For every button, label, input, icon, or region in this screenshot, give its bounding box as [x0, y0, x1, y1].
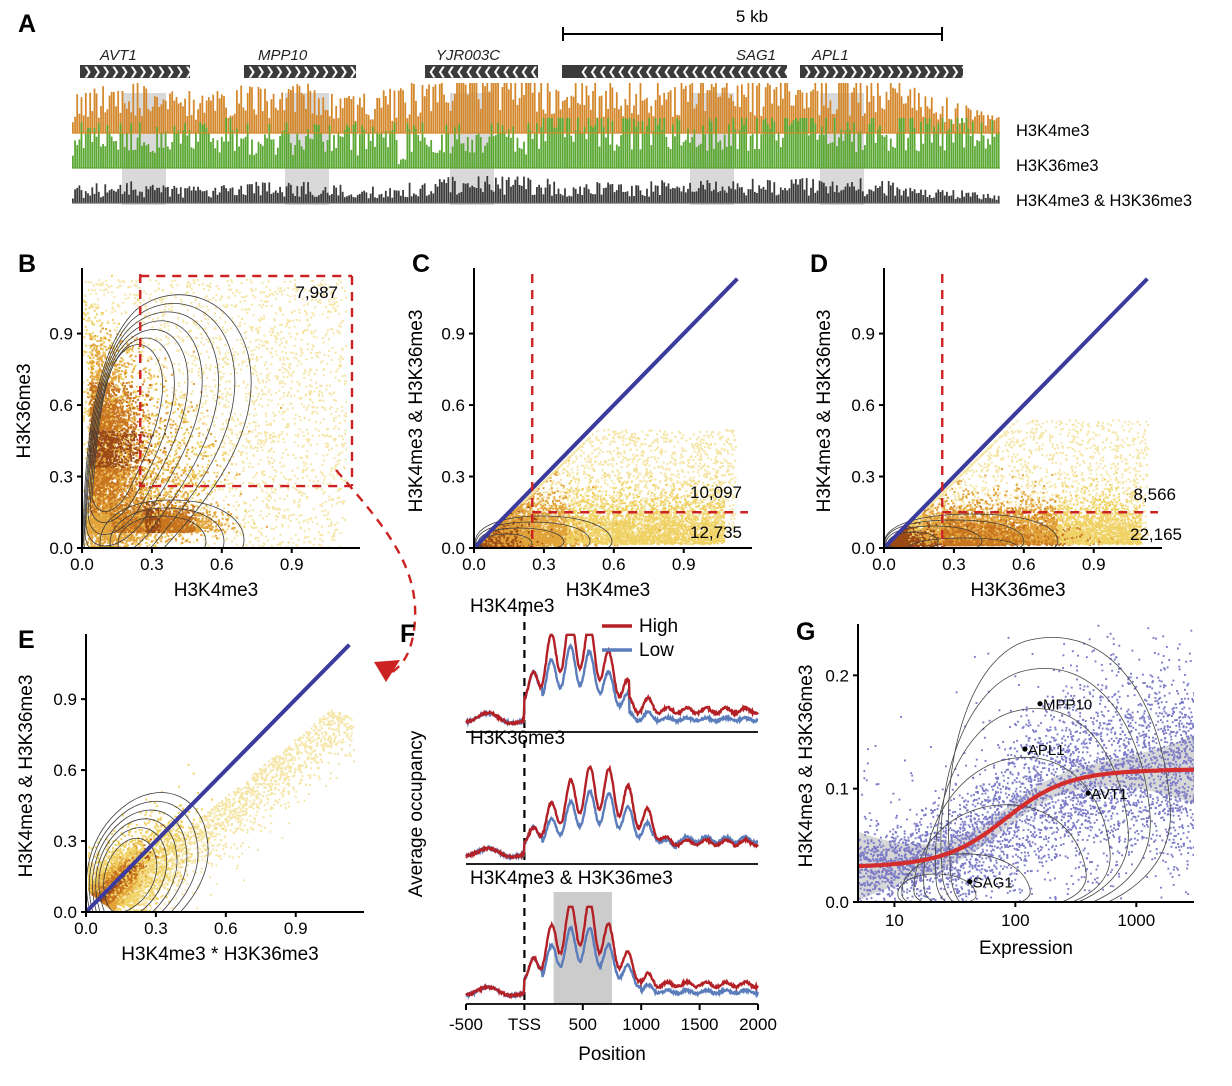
data-point [176, 350, 178, 352]
data-point [294, 441, 296, 443]
data-point [287, 287, 289, 289]
data-point [264, 433, 266, 435]
data-point [165, 419, 167, 421]
data-point [249, 541, 251, 543]
data-point [294, 338, 296, 340]
data-point [194, 447, 196, 449]
data-point [310, 379, 312, 381]
data-point [290, 351, 292, 353]
data-point [281, 351, 283, 353]
data-point [100, 330, 102, 332]
data-point [174, 342, 176, 344]
data-point [225, 406, 227, 408]
data-point [160, 417, 162, 419]
data-point [237, 353, 239, 355]
data-point [216, 476, 218, 478]
data-point [177, 408, 179, 410]
data-point [90, 281, 92, 283]
data-point [167, 466, 169, 468]
data-point [131, 431, 133, 433]
data-point [210, 503, 212, 505]
data-point [92, 332, 94, 334]
data-point [321, 392, 323, 394]
data-point [143, 421, 145, 423]
data-point [263, 341, 265, 343]
data-point [191, 381, 193, 383]
data-point [325, 501, 327, 503]
data-point [244, 332, 246, 334]
data-point [84, 295, 86, 297]
data-point [102, 442, 104, 444]
data-point [191, 371, 193, 373]
data-point [271, 488, 273, 490]
data-point [323, 460, 325, 462]
data-point [242, 482, 244, 484]
data-point [337, 305, 339, 307]
data-point [193, 282, 195, 284]
data-point [219, 390, 221, 392]
data-point [282, 438, 284, 440]
data-point [144, 444, 146, 446]
data-point [111, 382, 113, 384]
data-point [335, 411, 337, 413]
data-point [130, 424, 132, 426]
data-point [132, 426, 134, 428]
data-point [313, 314, 315, 316]
data-point [284, 441, 286, 443]
data-point [342, 320, 344, 322]
data-point [330, 371, 332, 373]
data-point [341, 451, 343, 453]
data-point [185, 455, 187, 457]
data-point [168, 538, 170, 540]
data-point [268, 513, 270, 515]
data-point [143, 321, 145, 323]
data-point [210, 486, 212, 488]
data-point [175, 390, 177, 392]
data-point [85, 401, 87, 403]
data-point [175, 428, 177, 430]
data-point [165, 401, 167, 403]
data-point [307, 433, 309, 435]
data-point [301, 494, 303, 496]
data-point [88, 367, 90, 369]
data-point [292, 542, 294, 544]
data-point [273, 294, 275, 296]
data-point [314, 537, 316, 539]
data-point [345, 412, 347, 414]
data-point [198, 421, 200, 423]
data-point [138, 395, 140, 397]
data-point [178, 506, 180, 508]
data-point [319, 390, 321, 392]
data-point [248, 510, 250, 512]
data-point [132, 473, 134, 475]
data-point [203, 416, 205, 418]
data-point [342, 517, 344, 519]
data-point [159, 349, 161, 351]
data-point [312, 346, 314, 348]
data-point [85, 410, 87, 412]
data-point [232, 527, 234, 529]
data-point [86, 320, 88, 322]
data-point [85, 351, 87, 353]
data-point [307, 522, 309, 524]
data-point [280, 287, 282, 289]
data-point [328, 449, 330, 451]
data-point [293, 357, 295, 359]
data-point [170, 292, 172, 294]
data-point [215, 440, 217, 442]
data-point [182, 487, 184, 489]
data-point [308, 419, 310, 421]
data-point [165, 337, 167, 339]
data-point [212, 516, 214, 518]
data-point [270, 394, 272, 396]
data-point [226, 435, 228, 437]
data-point [264, 441, 266, 443]
data-point [281, 457, 283, 459]
data-point [211, 454, 213, 456]
signal-track-combined [72, 176, 1000, 203]
data-point [200, 320, 202, 322]
data-point [235, 463, 237, 465]
data-point [263, 315, 265, 317]
data-point [288, 373, 290, 375]
data-point [167, 469, 169, 471]
data-point [265, 536, 267, 538]
data-point [205, 327, 207, 329]
data-point [231, 304, 233, 306]
data-point [250, 534, 252, 536]
data-point [164, 447, 166, 449]
data-point [134, 543, 136, 545]
data-point [210, 433, 212, 435]
data-point [223, 304, 225, 306]
data-point [129, 293, 131, 295]
data-point [228, 289, 230, 291]
data-point [288, 515, 290, 517]
data-point [274, 469, 276, 471]
data-point [141, 466, 143, 468]
data-point [180, 480, 182, 482]
data-point [268, 389, 270, 391]
data-point [314, 330, 316, 332]
data-point [184, 382, 186, 384]
data-point [333, 399, 335, 401]
data-point [252, 421, 254, 423]
data-point [209, 507, 211, 509]
data-point [261, 345, 263, 347]
data-point [102, 355, 104, 357]
data-point [142, 395, 144, 397]
data-point [178, 369, 180, 371]
data-point [119, 407, 121, 409]
data-point [174, 401, 176, 403]
data-point [198, 368, 200, 370]
data-point [340, 532, 342, 534]
data-point [177, 500, 179, 502]
data-point [252, 466, 254, 468]
data-point [209, 286, 211, 288]
data-point [240, 491, 242, 493]
data-point [120, 382, 122, 384]
data-point [206, 410, 208, 412]
data-point [132, 371, 134, 373]
data-point [327, 531, 329, 533]
data-point [196, 541, 198, 543]
data-point [273, 420, 275, 422]
data-point [165, 479, 167, 481]
data-point [287, 454, 289, 456]
data-point [171, 467, 173, 469]
data-point [191, 490, 193, 492]
data-point [181, 391, 183, 393]
data-point [307, 319, 309, 321]
data-point [208, 460, 210, 462]
data-point [159, 475, 161, 477]
data-point [181, 427, 183, 429]
data-point [248, 346, 250, 348]
data-point [268, 372, 270, 374]
data-point [292, 289, 294, 291]
data-point [321, 464, 323, 466]
data-point [201, 306, 203, 308]
data-point [223, 373, 225, 375]
data-point [127, 476, 129, 478]
data-point [167, 436, 169, 438]
data-point [231, 463, 233, 465]
data-point [266, 438, 268, 440]
data-point [308, 404, 310, 406]
data-point [108, 286, 110, 288]
data-point [98, 306, 100, 308]
data-point [163, 481, 165, 483]
data-point [262, 304, 264, 306]
data-point [198, 435, 200, 437]
data-point [136, 439, 138, 441]
data-point [193, 315, 195, 317]
data-point [245, 396, 247, 398]
data-point [296, 489, 298, 491]
data-point [338, 428, 340, 430]
data-point [316, 369, 318, 371]
data-point [225, 496, 227, 498]
data-point [197, 346, 199, 348]
data-point [211, 491, 213, 493]
data-point [91, 351, 93, 353]
data-point [272, 508, 274, 510]
data-point [333, 428, 335, 430]
data-point [304, 310, 306, 312]
data-point [280, 331, 282, 333]
data-point [227, 393, 229, 395]
data-point [177, 477, 179, 479]
gene-label-avt1: AVT1 [99, 47, 137, 64]
data-point [235, 385, 237, 387]
data-point [312, 435, 314, 437]
data-point [206, 509, 208, 511]
data-point [167, 329, 169, 331]
data-point [213, 421, 215, 423]
panel-b: B 0.00.30.60.90.00.30.60.9H3K4me3H3K36me… [0, 248, 400, 588]
data-point [220, 379, 222, 381]
data-point [318, 395, 320, 397]
data-point [148, 498, 150, 500]
data-point [216, 285, 218, 287]
data-point [230, 279, 232, 281]
data-point [147, 436, 149, 438]
data-point [215, 516, 217, 518]
data-point [214, 424, 216, 426]
data-point [157, 376, 159, 378]
data-point [292, 407, 294, 409]
data-point [340, 299, 342, 301]
data-point [148, 312, 150, 314]
data-point [183, 434, 185, 436]
data-point [175, 431, 177, 433]
data-point [252, 403, 254, 405]
data-point [328, 525, 330, 527]
data-point [114, 329, 116, 331]
data-point [251, 515, 253, 517]
data-point [128, 351, 130, 353]
data-point [178, 403, 180, 405]
data-point [308, 374, 310, 376]
data-point [224, 331, 226, 333]
data-point [329, 482, 331, 484]
data-point [218, 350, 220, 352]
data-point [172, 481, 174, 483]
data-point [92, 303, 94, 305]
data-point [102, 284, 104, 286]
data-point [160, 324, 162, 326]
data-point [222, 428, 224, 430]
data-point [133, 368, 135, 370]
data-point [297, 381, 299, 383]
data-point [297, 467, 299, 469]
data-point [219, 465, 221, 467]
data-point [206, 377, 208, 379]
data-point [288, 525, 290, 527]
data-point [326, 332, 328, 334]
data-point [329, 408, 331, 410]
data-point [275, 312, 277, 314]
data-point [232, 482, 234, 484]
data-point [285, 325, 287, 327]
data-point [231, 488, 233, 490]
data-point [175, 502, 177, 504]
data-point [255, 346, 257, 348]
data-point [106, 284, 108, 286]
data-point [257, 540, 259, 542]
data-point [260, 459, 262, 461]
data-point [215, 535, 217, 537]
data-point [166, 389, 168, 391]
data-point [94, 338, 96, 340]
data-point [313, 481, 315, 483]
data-point [195, 410, 197, 412]
data-point [117, 397, 119, 399]
data-point [218, 339, 220, 341]
data-point [265, 295, 267, 297]
data-point [316, 337, 318, 339]
data-point [114, 368, 116, 370]
gene-avt1: AVT1 ❯❯❯❯❯❯❯❯❯❯❯❯❯❯ [80, 47, 212, 78]
data-point [297, 365, 299, 367]
data-point [333, 418, 335, 420]
data-point [178, 385, 180, 387]
data-point [229, 388, 231, 390]
data-point [257, 463, 259, 465]
plot-area [82, 275, 347, 578]
data-point [278, 437, 280, 439]
data-point [191, 391, 193, 393]
data-point [188, 501, 190, 503]
data-point [330, 406, 332, 408]
data-point [304, 417, 306, 419]
data-point [283, 356, 285, 358]
data-point [148, 391, 150, 393]
data-point [141, 359, 143, 361]
data-point [251, 350, 253, 352]
data-point [190, 426, 192, 428]
data-point [214, 542, 216, 544]
data-point [228, 472, 230, 474]
data-point [274, 499, 276, 501]
data-point [97, 304, 99, 306]
data-point [86, 329, 88, 331]
data-point [164, 435, 166, 437]
data-point [333, 539, 335, 541]
data-point [264, 431, 266, 433]
data-point [228, 406, 230, 408]
data-point [227, 351, 229, 353]
data-point [283, 498, 285, 500]
data-point [279, 509, 281, 511]
data-point [269, 289, 271, 291]
data-point [133, 457, 135, 459]
data-point [341, 478, 343, 480]
data-point [256, 399, 258, 401]
data-point [155, 481, 157, 483]
data-point [171, 496, 173, 498]
data-point [265, 515, 267, 517]
data-point [338, 313, 340, 315]
data-point [282, 404, 284, 406]
data-point [313, 508, 315, 510]
data-point [118, 378, 120, 380]
data-point [284, 346, 286, 348]
data-point [144, 429, 146, 431]
data-point [140, 495, 142, 497]
data-point [262, 440, 264, 442]
data-point [325, 409, 327, 411]
data-point [100, 356, 102, 358]
data-point [297, 478, 299, 480]
data-point [290, 395, 292, 397]
data-point [149, 298, 151, 300]
data-point [306, 409, 308, 411]
data-point [272, 412, 274, 414]
data-point [91, 290, 93, 292]
data-point [116, 287, 118, 289]
data-point [314, 306, 316, 308]
data-point [324, 476, 326, 478]
data-point [124, 393, 126, 395]
data-point [319, 302, 321, 304]
data-point [337, 460, 339, 462]
